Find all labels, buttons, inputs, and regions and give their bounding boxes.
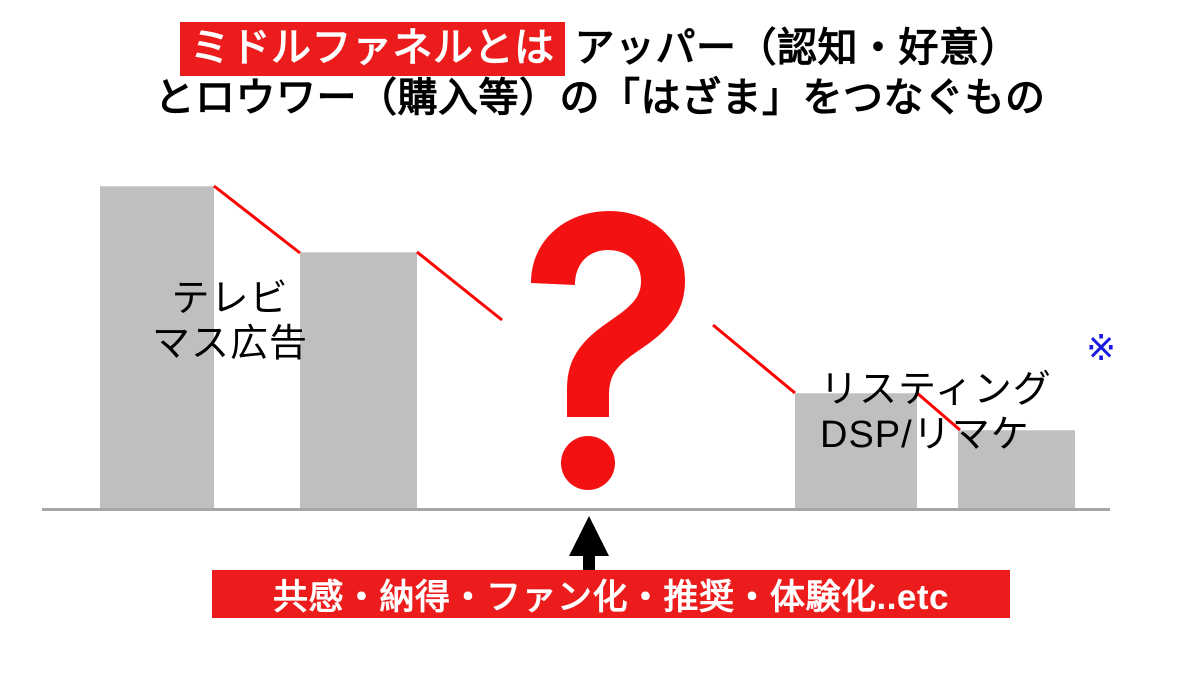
label-dsp-remarketing: DSP/リマケ: [820, 413, 1052, 458]
banner-text: 共感・納得・ファン化・推奨・体験化..etc: [273, 569, 949, 620]
bar-group-label-digital: リスティング DSP/リマケ: [820, 368, 1052, 458]
question-mark-icon: [505, 205, 695, 505]
reference-asterisk-icon: ※: [1086, 330, 1116, 366]
label-mass-ad: マス広告: [152, 322, 308, 367]
bar-group-label-mass: テレビ マス広告: [152, 277, 308, 367]
middle-funnel-banner: 共感・納得・ファン化・推奨・体験化..etc: [212, 570, 1010, 618]
chart-baseline: [42, 508, 1110, 511]
upward-arrow-icon: [565, 512, 615, 576]
slide-root: ミドルファネルとはアッパー（認知・好意） とロウワー（購入等）の「はざま」をつな…: [0, 0, 1200, 679]
label-tv: テレビ: [172, 278, 289, 320]
bar-mass-ad: [300, 252, 417, 508]
label-listing: リスティング: [820, 369, 1052, 411]
